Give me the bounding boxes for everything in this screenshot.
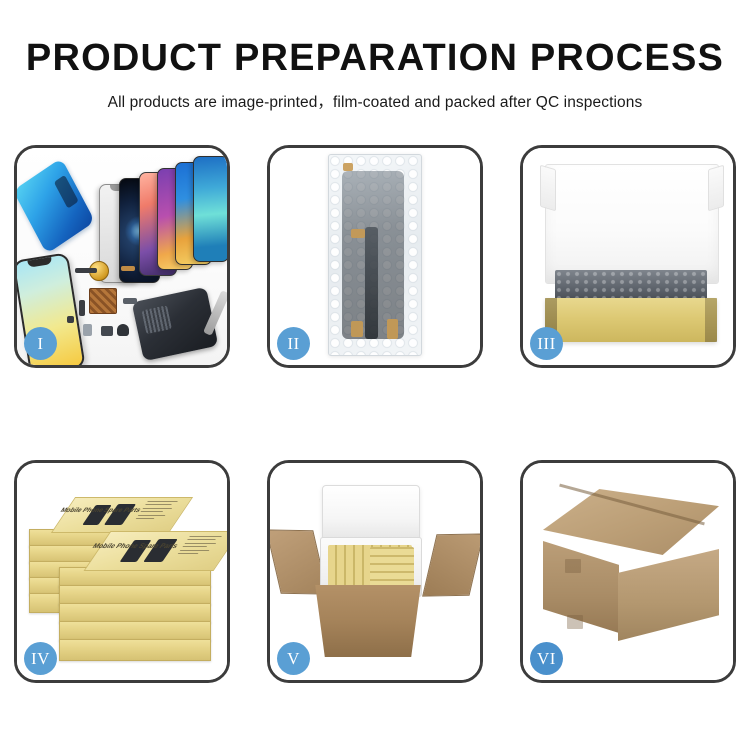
phone-part-small-7 (117, 324, 129, 336)
header: PRODUCT PREPARATION PROCESS All products… (0, 0, 750, 112)
phone-part-small-4 (123, 298, 137, 304)
step-badge-6: VI (530, 642, 563, 675)
box-lid-label-front: Mobile Phone Spare Parts (91, 543, 180, 550)
process-step-grid: Mobile phone LCD screens, phone models a… (14, 145, 736, 683)
carton-body-illustration (308, 585, 428, 657)
step-badge-1: I (24, 327, 57, 360)
inner-yellow-boxes-2 (370, 547, 414, 587)
tape-piece-4 (387, 319, 398, 339)
bubble-wrap-bag-illustration (328, 154, 422, 356)
phone-part-small-5 (83, 324, 92, 336)
carton-tab-upper (565, 559, 581, 573)
white-foam-lid-illustration (545, 164, 719, 284)
step-badge-5: V (277, 642, 310, 675)
phone-part-shield-illustration (89, 288, 117, 314)
product-preparation-infographic: PRODUCT PREPARATION PROCESS All products… (0, 0, 750, 750)
process-step-panel-2: Single phone screen sealed inside bubble… (267, 145, 483, 368)
step-badge-2: II (277, 327, 310, 360)
step-badge-3: III (530, 327, 563, 360)
process-step-panel-6: Sealed plain brown corrugated shipping c… (520, 460, 736, 683)
tape-piece-2 (351, 229, 365, 238)
phone-part-small-3 (121, 266, 135, 271)
stack-box-front-4 (59, 621, 211, 641)
wrapped-flex-cable-illustration (365, 227, 378, 339)
box-lid-label-back: Mobile Phone Spare Parts (59, 507, 143, 514)
process-step-panel-4: Mobile Phone Spare Parts Mobile Phone Sp… (14, 460, 230, 683)
phone-teal-illustration (193, 156, 227, 262)
process-step-panel-3: Open yellow kraft box with white foam li… (520, 145, 736, 368)
phone-part-small-8 (67, 316, 74, 323)
stack-box-front-2 (59, 585, 211, 605)
process-step-panel-5: Open brown carton holding a white styrof… (267, 460, 483, 683)
styrofoam-lid-illustration (322, 485, 420, 541)
carton-tab-lower (567, 615, 583, 629)
phone-part-small-1 (75, 268, 97, 273)
process-step-panel-1: Mobile phone LCD screens, phone models a… (14, 145, 230, 368)
yellow-box-body-illustration (545, 298, 717, 342)
tape-piece-3 (351, 321, 363, 337)
page-subtitle: All products are image-printed，film-coat… (0, 90, 750, 112)
tape-piece-1 (343, 163, 353, 171)
stack-box-front-3 (59, 603, 211, 623)
phone-part-small-6 (101, 326, 113, 336)
phone-part-small-2 (79, 300, 85, 316)
box-stack-illustration: Mobile Phone Spare Parts Mobile Phone Sp… (23, 481, 227, 671)
page-title: PRODUCT PREPARATION PROCESS (0, 38, 750, 80)
stack-box-front-5 (59, 639, 211, 661)
step-badge-4: IV (24, 642, 57, 675)
